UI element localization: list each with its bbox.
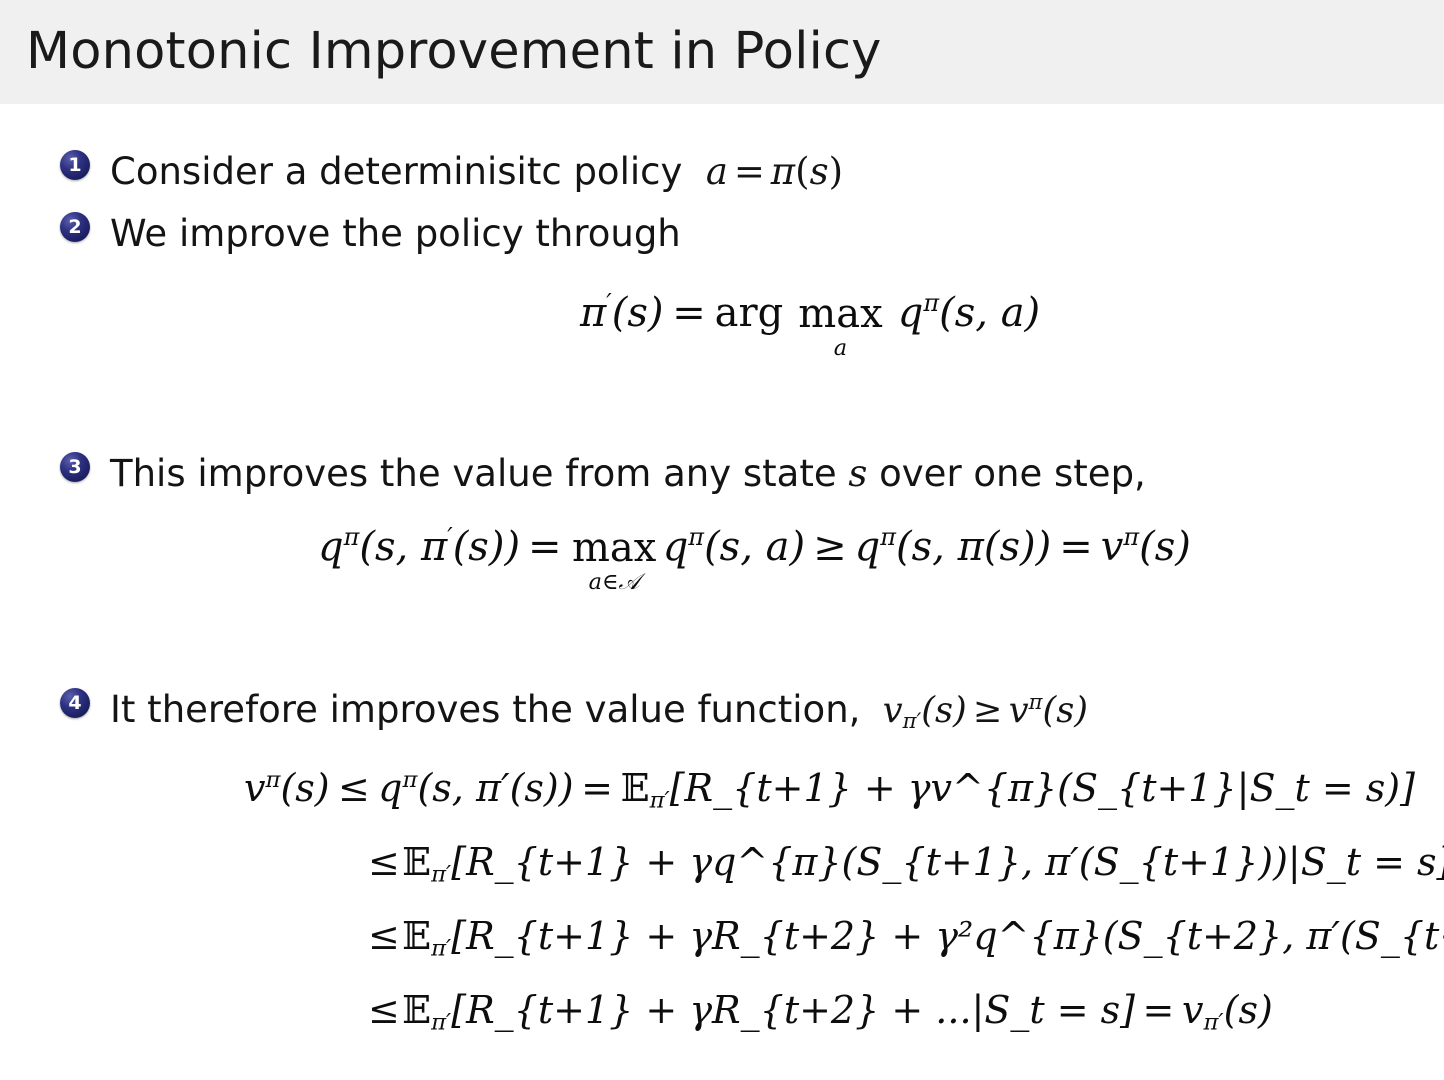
eq2-rhs-args: (s, π(s)) — [896, 524, 1051, 570]
d4-v: v — [1182, 988, 1203, 1032]
list-item-4: 4 It therefore improves the value functi… — [60, 688, 1088, 733]
slide-body: 1 Consider a determinisitc policy a=π(s)… — [0, 104, 1444, 1080]
d1-body: [R_{t+1} + γv^{π}(S_{t+1}|S_t = s)] — [670, 766, 1415, 810]
eq2-v-sup: π — [1123, 523, 1139, 551]
slide-header-bar: Monotonic Improvement in Policy — [0, 0, 1444, 104]
d4-equals: = — [1135, 988, 1182, 1032]
list-item-3-lead-b: over one step, — [879, 452, 1146, 495]
eq1-max-label: max — [798, 294, 882, 334]
eq2-max-operator: maxa∈𝒜 — [572, 528, 656, 593]
list-item-3: 3 This improves the value from any state… — [60, 452, 1146, 496]
d2-body: [R_{t+1} + γq^{π}(S_{t+1}, π′(S_{t+1}))|… — [451, 840, 1444, 884]
eq2-lhs-pi: π — [421, 524, 447, 570]
eq2-mid-q: q — [663, 524, 689, 570]
eq2-lhs-q: q — [318, 524, 344, 570]
list-item-3-lead-a: This improves the value from any state — [110, 452, 837, 495]
enumerate-badge-4: 4 — [60, 688, 90, 718]
d1-q: q — [378, 766, 402, 810]
d1-q-sup: π — [403, 767, 418, 793]
list-item-3-text: This improves the value from any state s… — [110, 452, 1146, 496]
list-item-4-inline-math: vπ′(s)≥vπ(s) — [860, 690, 1088, 731]
eq2-lhs-inner: (s)) — [453, 524, 520, 570]
eq2-max-label: max — [572, 528, 656, 568]
eq2-mid-args: (s, a) — [704, 524, 805, 570]
d3-expectation-sub: π′ — [431, 935, 451, 961]
eq2-equals-2: = — [1051, 524, 1101, 570]
eq2-v: v — [1101, 524, 1124, 570]
math-equals: = — [728, 150, 771, 193]
eq2-lhs-sup: π — [344, 523, 360, 551]
item4-v2: v — [1009, 690, 1029, 731]
eq2-equals: = — [520, 524, 570, 570]
d4-leq: ≤ — [368, 988, 402, 1032]
eq2-rhs-sup: π — [880, 523, 896, 551]
list-item-1-lead: Consider a determinisitc policy — [110, 150, 682, 193]
eq1-q-args: (s, a) — [939, 290, 1040, 336]
eq2-lhs-args-open: (s, — [359, 524, 421, 570]
math-var-a: a — [706, 150, 728, 193]
eq2-geq: ≥ — [805, 524, 855, 570]
math-paren-close: ) — [829, 150, 843, 193]
equation-q-improvement-inequality: qπ(s, π′(s))=maxa∈𝒜qπ(s, a)≥qπ(s, π(s))=… — [318, 524, 1191, 593]
item4-v: v — [883, 690, 903, 731]
derivation-line-4: ≤𝔼π′[R_{t+1} + γR_{t+2} + ...|S_t = s]=v… — [368, 988, 1273, 1032]
list-item-4-lead: It therefore improves the value function… — [110, 688, 860, 731]
eq1-arg: arg — [715, 290, 784, 336]
eq1-max-operator: maxa — [798, 294, 882, 359]
d4-expectation: 𝔼 — [402, 988, 431, 1032]
item4-v2-sup: π — [1029, 689, 1043, 714]
math-var-s: s — [810, 150, 829, 193]
d2-expectation-sub: π′ — [431, 861, 451, 887]
list-item-1-text: Consider a determinisitc policy a=π(s) — [110, 150, 843, 194]
d1-equals: = — [574, 766, 621, 810]
d4-expectation-sub: π′ — [431, 1009, 451, 1035]
eq2-max-limit: a∈𝒜 — [589, 571, 640, 593]
eq2-rhs-q: q — [855, 524, 881, 570]
eq1-pi: π — [580, 290, 606, 336]
d3-body: [R_{t+1} + γR_{t+2} + γ²q^{π}(S_{t+2}, π… — [451, 914, 1444, 958]
d1-expectation: 𝔼 — [621, 766, 650, 810]
list-item-3-var-s: s — [848, 452, 867, 495]
list-item-2-text: We improve the policy through — [110, 212, 681, 256]
d1-leq: ≤ — [330, 766, 379, 810]
equation-policy-improvement-argmax: π′(s)=arg maxa qπ(s, a) — [580, 290, 1040, 359]
d3-leq: ≤ — [368, 914, 402, 958]
eq1-q-sup: π — [923, 289, 939, 317]
page-title: Monotonic Improvement in Policy — [26, 22, 882, 82]
enumerate-badge-2: 2 — [60, 212, 90, 242]
eq1-max-limit: a — [834, 337, 847, 359]
item4-v-sub: π′ — [903, 708, 922, 733]
list-item-1: 1 Consider a determinisitc policy a=π(s) — [60, 150, 843, 194]
eq1-q: q — [898, 290, 924, 336]
eq2-v-args: (s) — [1139, 524, 1191, 570]
eq1-arg-s: (s) — [612, 290, 664, 336]
enumerate-badge-1: 1 — [60, 150, 90, 180]
d1-q-args: (s, π′(s)) — [417, 766, 573, 810]
derivation-line-3: ≤𝔼π′[R_{t+1} + γR_{t+2} + γ²q^{π}(S_{t+2… — [368, 914, 1444, 958]
d1-v-args: (s) — [280, 766, 329, 810]
d2-expectation: 𝔼 — [402, 840, 431, 884]
eq1-equals: = — [664, 290, 715, 336]
eq2-mid-sup: π — [688, 523, 704, 551]
math-paren-open: ( — [795, 150, 809, 193]
math-pi: π — [771, 150, 795, 193]
d4-body: [R_{t+1} + γR_{t+2} + ...|S_t = s] — [451, 988, 1135, 1032]
list-item-2: 2 We improve the policy through — [60, 212, 681, 256]
d4-v-args: (s) — [1224, 988, 1273, 1032]
d3-expectation: 𝔼 — [402, 914, 431, 958]
d2-leq: ≤ — [368, 840, 402, 884]
derivation-line-2: ≤𝔼π′[R_{t+1} + γq^{π}(S_{t+1}, π′(S_{t+1… — [368, 840, 1444, 884]
d1-v: v — [244, 766, 265, 810]
list-item-1-inline-math: a=π(s) — [682, 150, 843, 193]
derivation-line-1: vπ(s)≤qπ(s, π′(s))=𝔼π′[R_{t+1} + γv^{π}(… — [244, 766, 1415, 810]
enumerate-badge-3: 3 — [60, 452, 90, 482]
d1-v-sup: π — [265, 767, 280, 793]
slide-root: Monotonic Improvement in Policy 1 Consid… — [0, 0, 1444, 1080]
item4-geq: ≥ — [967, 690, 1009, 731]
list-item-4-text: It therefore improves the value function… — [110, 688, 1088, 733]
item4-s1: (s) — [921, 690, 966, 731]
d1-expectation-sub: π′ — [650, 787, 670, 813]
d4-v-sub: π′ — [1203, 1009, 1223, 1035]
item4-s2: (s) — [1043, 690, 1088, 731]
